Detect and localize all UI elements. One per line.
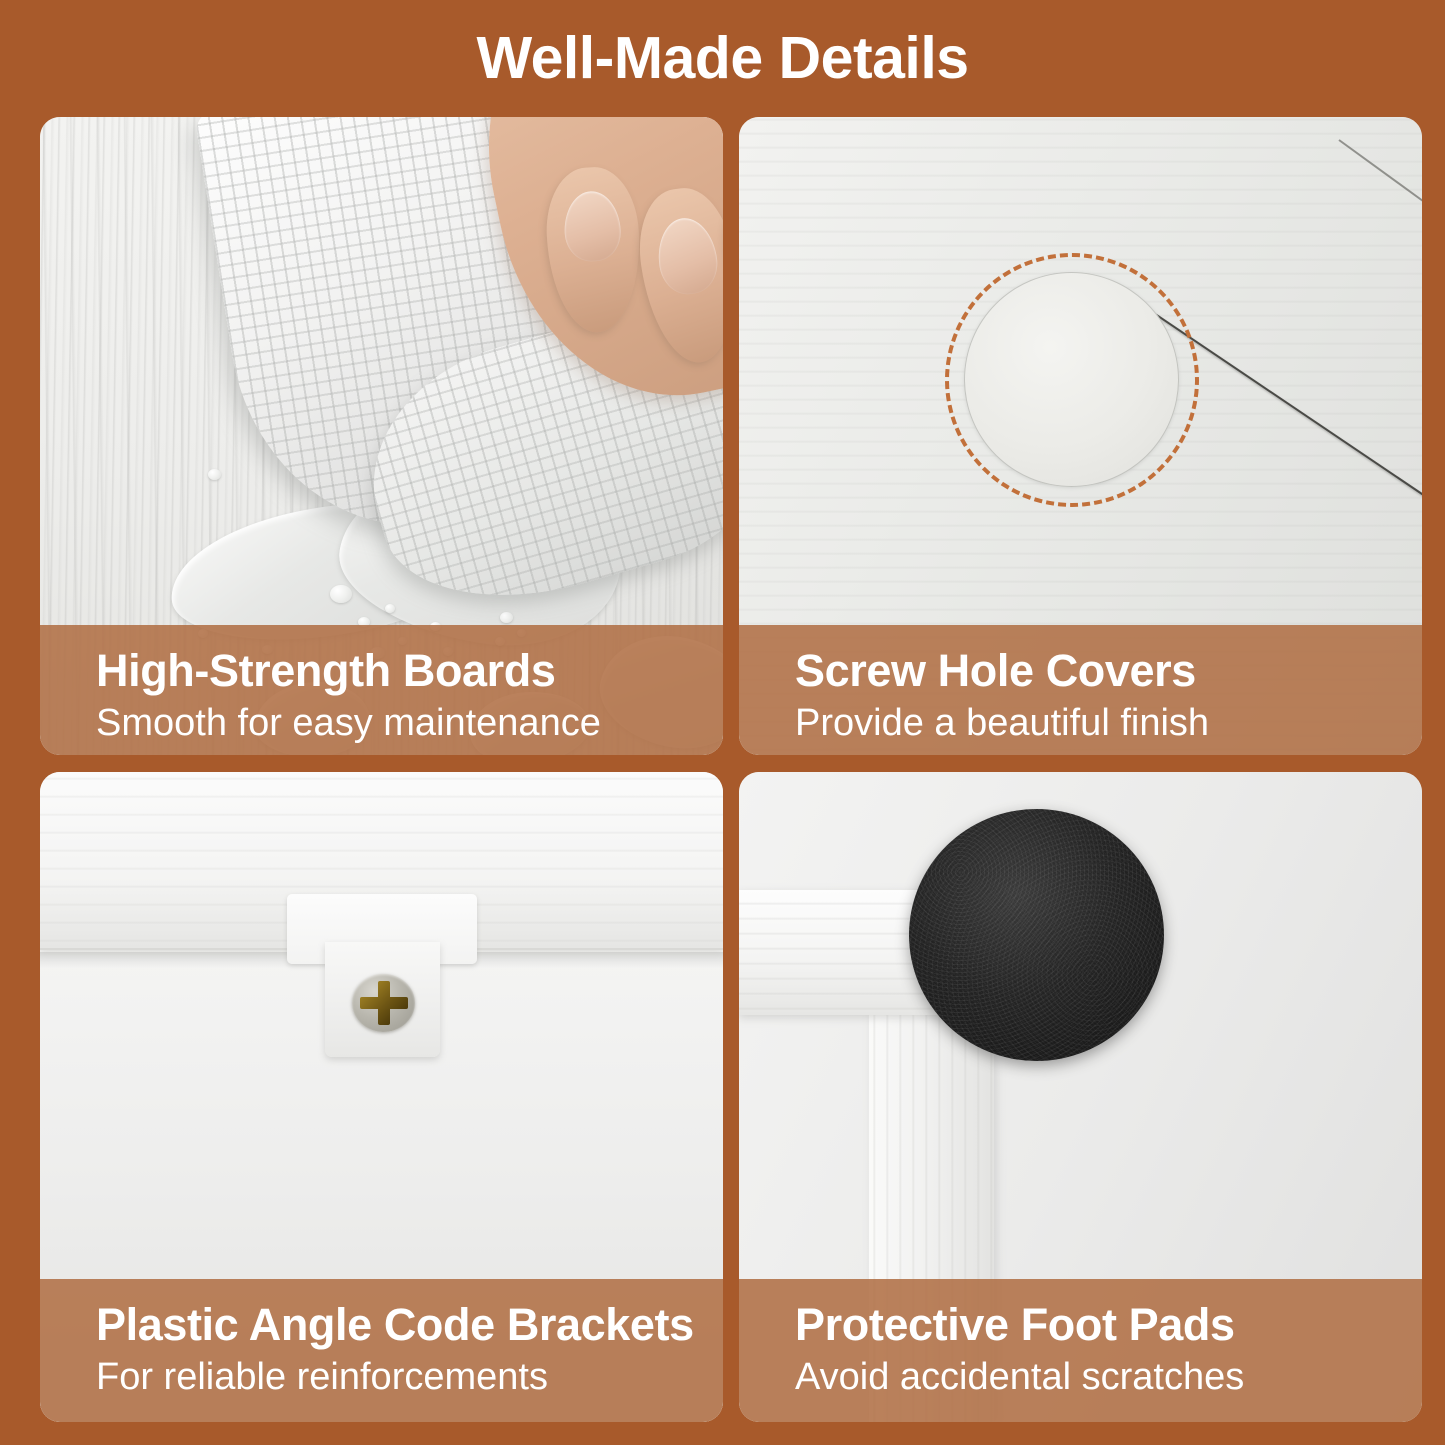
caption-plastic-angle-code-brackets: Plastic Angle Code Brackets For reliable… bbox=[40, 1279, 723, 1422]
caption-title: High-Strength Boards bbox=[96, 647, 723, 696]
finger bbox=[543, 165, 644, 335]
screw-cross-slot bbox=[360, 997, 408, 1009]
caption-subtitle: Smooth for easy maintenance bbox=[96, 702, 723, 745]
caption-title: Protective Foot Pads bbox=[795, 1301, 1422, 1350]
feature-grid: High-Strength Boards Smooth for easy mai… bbox=[40, 117, 1405, 1405]
water-droplet bbox=[330, 585, 352, 603]
fingernail bbox=[653, 214, 721, 297]
foot-pad-felt-texture bbox=[909, 809, 1164, 1061]
caption-subtitle: Avoid accidental scratches bbox=[795, 1356, 1422, 1399]
feature-card-protective-foot-pads[interactable]: Protective Foot Pads Avoid accidental sc… bbox=[739, 772, 1422, 1422]
feature-card-plastic-angle-code-brackets[interactable]: Plastic Angle Code Brackets For reliable… bbox=[40, 772, 723, 1422]
feature-card-screw-hole-covers[interactable]: Screw Hole Covers Provide a beautiful fi… bbox=[739, 117, 1422, 755]
header-bar: Well-Made Details bbox=[0, 0, 1445, 117]
phillips-screw bbox=[352, 974, 415, 1032]
page-title: Well-Made Details bbox=[476, 29, 968, 88]
caption-protective-foot-pads: Protective Foot Pads Avoid accidental sc… bbox=[739, 1279, 1422, 1422]
caption-subtitle: Provide a beautiful finish bbox=[795, 702, 1422, 745]
water-droplet bbox=[208, 469, 221, 480]
fingernail bbox=[563, 190, 623, 263]
water-droplet bbox=[500, 612, 513, 623]
water-droplet bbox=[385, 604, 395, 613]
caption-title: Plastic Angle Code Brackets bbox=[96, 1301, 723, 1350]
caption-subtitle: For reliable reinforcements bbox=[96, 1356, 723, 1399]
caption-title: Screw Hole Covers bbox=[795, 647, 1422, 696]
caption-high-strength-boards: High-Strength Boards Smooth for easy mai… bbox=[40, 625, 723, 755]
protective-foot-pad bbox=[909, 809, 1164, 1061]
finger bbox=[631, 182, 723, 368]
annotation-dashed-circle bbox=[945, 253, 1199, 507]
feature-card-high-strength-boards[interactable]: High-Strength Boards Smooth for easy mai… bbox=[40, 117, 723, 755]
caption-screw-hole-covers: Screw Hole Covers Provide a beautiful fi… bbox=[739, 625, 1422, 755]
